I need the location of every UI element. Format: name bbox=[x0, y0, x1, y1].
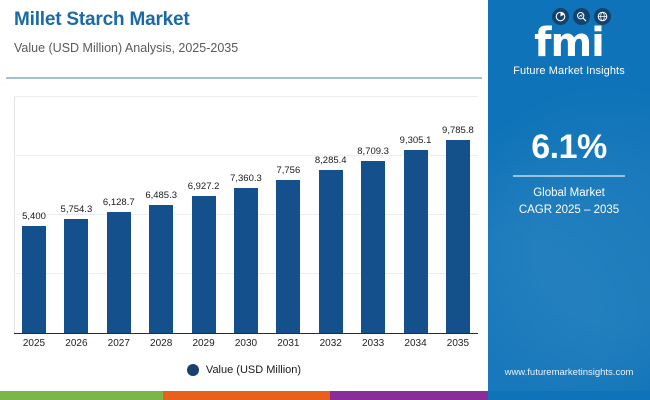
bar: 8,285.4 bbox=[319, 170, 343, 333]
x-axis-tick-label: 2034 bbox=[396, 338, 436, 349]
bar-slot: 8,709.3 bbox=[353, 97, 393, 333]
bar: 5,754.3 bbox=[64, 219, 88, 332]
x-axis-line bbox=[14, 333, 478, 335]
bar: 7,756 bbox=[276, 180, 300, 333]
plot-area: 5,4005,754.36,128.76,485.36,927.27,360.3… bbox=[14, 96, 478, 334]
chart-subtitle: Value (USD Million) Analysis, 2025-2035 bbox=[14, 40, 474, 56]
bar-value-label: 7,360.3 bbox=[230, 173, 262, 184]
bar-value-label: 7,756 bbox=[276, 165, 300, 176]
x-axis-tick-label: 2028 bbox=[141, 338, 181, 349]
header-divider bbox=[6, 77, 482, 79]
bar-value-label: 6,485.3 bbox=[145, 190, 177, 201]
strip-segment-blue bbox=[488, 391, 650, 400]
x-axis-tick-label: 2027 bbox=[99, 338, 139, 349]
chart-header: Millet Starch Market Value (USD Million)… bbox=[14, 8, 474, 56]
bar-slot: 9,785.8 bbox=[438, 97, 478, 333]
strip-segment-green bbox=[0, 391, 163, 400]
x-axis-labels: 2025202620272028202920302031203220332034… bbox=[14, 338, 478, 349]
cagr-caption-line1: Global Market bbox=[488, 185, 650, 202]
strip-segment-orange bbox=[163, 391, 330, 400]
bar-slot: 8,285.4 bbox=[311, 97, 351, 333]
bar: 6,128.7 bbox=[107, 212, 131, 333]
cagr-value: 6.1% bbox=[488, 128, 650, 166]
bar-value-label: 9,305.1 bbox=[400, 135, 432, 146]
bar-value-label: 8,285.4 bbox=[315, 155, 347, 166]
bar-slot: 6,485.3 bbox=[141, 97, 181, 333]
bar-slot: 5,400 bbox=[14, 97, 54, 333]
strip-segment-purple bbox=[330, 391, 488, 400]
x-axis-tick-label: 2035 bbox=[438, 338, 478, 349]
bar-slot: 7,756 bbox=[268, 97, 308, 333]
bar-value-label: 6,927.2 bbox=[188, 181, 220, 192]
bar: 9,305.1 bbox=[404, 150, 428, 333]
cagr-block: 6.1% Global Market CAGR 2025 – 2035 bbox=[488, 128, 650, 219]
x-axis-tick-label: 2031 bbox=[268, 338, 308, 349]
bar: 6,927.2 bbox=[192, 196, 216, 332]
bar: 5,400 bbox=[22, 226, 46, 332]
bar-slot: 6,927.2 bbox=[184, 97, 224, 333]
cagr-caption-line2: CAGR 2025 – 2035 bbox=[488, 202, 650, 219]
bar-slot: 6,128.7 bbox=[99, 97, 139, 333]
x-axis-tick-label: 2032 bbox=[311, 338, 351, 349]
bar-slot: 7,360.3 bbox=[226, 97, 266, 333]
x-axis-tick-label: 2029 bbox=[184, 338, 224, 349]
logo-tagline: Future Market Insights bbox=[513, 65, 625, 77]
x-axis-tick-label: 2033 bbox=[353, 338, 393, 349]
x-axis-tick-label: 2030 bbox=[226, 338, 266, 349]
fmi-logo: fmi Future Market Insights bbox=[488, 6, 650, 77]
bar: 6,485.3 bbox=[149, 205, 173, 333]
legend-marker-icon bbox=[187, 364, 199, 376]
chart-pane: Millet Starch Market Value (USD Million)… bbox=[0, 0, 488, 400]
bar-value-label: 8,709.3 bbox=[357, 146, 389, 157]
chart-legend: Value (USD Million) bbox=[0, 364, 488, 376]
bar-value-label: 5,400 bbox=[22, 211, 46, 222]
website-url: www.futuremarketinsights.com bbox=[488, 367, 650, 378]
x-axis-tick-label: 2026 bbox=[56, 338, 96, 349]
cagr-divider bbox=[513, 175, 625, 177]
bar: 8,709.3 bbox=[361, 161, 385, 332]
bar-slot: 5,754.3 bbox=[56, 97, 96, 333]
brand-panel: fmi Future Market Insights 6.1% Global M… bbox=[488, 0, 650, 400]
logo-wordmark: fmi bbox=[534, 22, 604, 64]
page-title: Millet Starch Market bbox=[14, 8, 474, 32]
legend-label: Value (USD Million) bbox=[206, 364, 301, 376]
bar-series: 5,4005,754.36,128.76,485.36,927.27,360.3… bbox=[14, 97, 478, 333]
bar: 9,785.8 bbox=[446, 140, 470, 332]
bar-value-label: 9,785.8 bbox=[442, 125, 474, 136]
x-axis-tick-label: 2025 bbox=[14, 338, 54, 349]
bottom-color-strip bbox=[0, 391, 650, 400]
bar-value-label: 5,754.3 bbox=[61, 204, 93, 215]
chart-infographic: Millet Starch Market Value (USD Million)… bbox=[0, 0, 650, 400]
bar: 7,360.3 bbox=[234, 188, 258, 333]
bar-slot: 9,305.1 bbox=[396, 97, 436, 333]
bar-value-label: 6,128.7 bbox=[103, 197, 135, 208]
